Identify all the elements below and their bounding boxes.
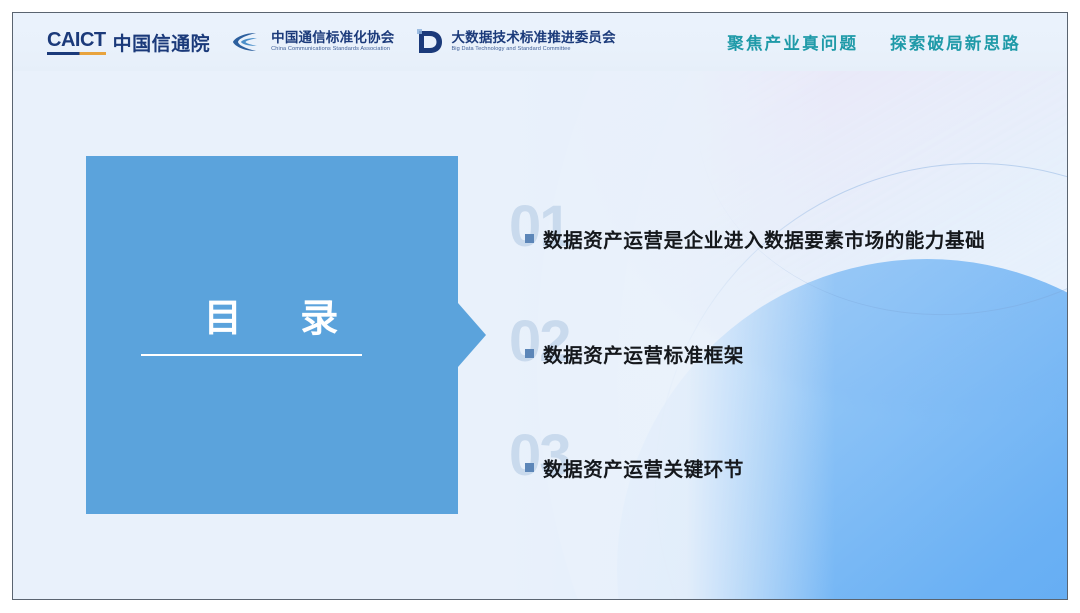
toc-title-char-2: 录 <box>300 296 340 340</box>
caict-wordmark: CAICT <box>47 30 106 55</box>
toc-title-char-1: 目 <box>204 296 244 340</box>
toc-item-label: 数据资产运营标准框架 <box>543 339 744 368</box>
bdtc-english-name: Big Data Technology and Standard Committ… <box>451 47 615 53</box>
toc-item-label: 数据资产运营是企业进入数据要素市场的能力基础 <box>543 224 985 253</box>
logo-group: CAICT 中国信通院 中国通信标准化协会 China Communicatio… <box>47 27 616 57</box>
slogan-right-text: 探索破局新思路 <box>890 34 1021 53</box>
toc-bullet-square-icon <box>525 349 534 358</box>
bdtc-d-icon <box>414 27 444 57</box>
toc-item-03[interactable]: 03 数据资产运营关键环节 <box>511 437 744 497</box>
slide-header: CAICT 中国信通院 中国通信标准化协会 China Communicatio… <box>13 13 1067 71</box>
page-title: 目 录 <box>86 298 458 340</box>
toc-bullet-square-icon <box>525 234 534 243</box>
ccsa-chinese-name: 中国通信标准化协会 <box>271 31 394 45</box>
toc-panel-arrow-icon <box>458 303 486 367</box>
bdtc-text: 大数据技术标准推进委员会 Big Data Technology and Sta… <box>451 31 615 53</box>
logo-caict: CAICT 中国信通院 <box>47 29 210 56</box>
caict-chinese-name: 中国信通院 <box>113 29 211 56</box>
header-slogan: 聚焦产业真问题 探索破局新思路 <box>727 30 1021 54</box>
slide-frame: CAICT 中国信通院 中国通信标准化协会 China Communicatio… <box>12 12 1068 600</box>
ccsa-english-name: China Communications Standards Associati… <box>271 47 394 53</box>
slogan-left-text: 聚焦产业真问题 <box>727 34 858 53</box>
ccsa-text: 中国通信标准化协会 China Communications Standards… <box>271 31 394 53</box>
toc-list: 01 数据资产运营是企业进入数据要素市场的能力基础 02 数据资产运营标准框架 … <box>511 156 1043 514</box>
ccsa-swoosh-icon <box>230 29 264 55</box>
toc-title-wrap: 目 录 <box>86 298 458 340</box>
bdtc-chinese-name: 大数据技术标准推进委员会 <box>451 31 615 45</box>
slide-content: 目 录 01 数据资产运营是企业进入数据要素市场的能力基础 02 数据资产运营标… <box>13 13 1067 599</box>
logo-ccsa: 中国通信标准化协会 China Communications Standards… <box>230 29 394 55</box>
toc-item-01[interactable]: 01 数据资产运营是企业进入数据要素市场的能力基础 <box>511 208 985 268</box>
logo-bdtc: 大数据技术标准推进委员会 Big Data Technology and Sta… <box>414 27 615 57</box>
toc-title-underline <box>141 354 362 356</box>
toc-bullet-square-icon <box>525 463 534 472</box>
caict-underline-rule <box>47 52 106 55</box>
caict-letters: CAICT <box>47 30 106 50</box>
toc-item-label: 数据资产运营关键环节 <box>543 453 744 482</box>
toc-item-02[interactable]: 02 数据资产运营标准框架 <box>511 323 744 383</box>
